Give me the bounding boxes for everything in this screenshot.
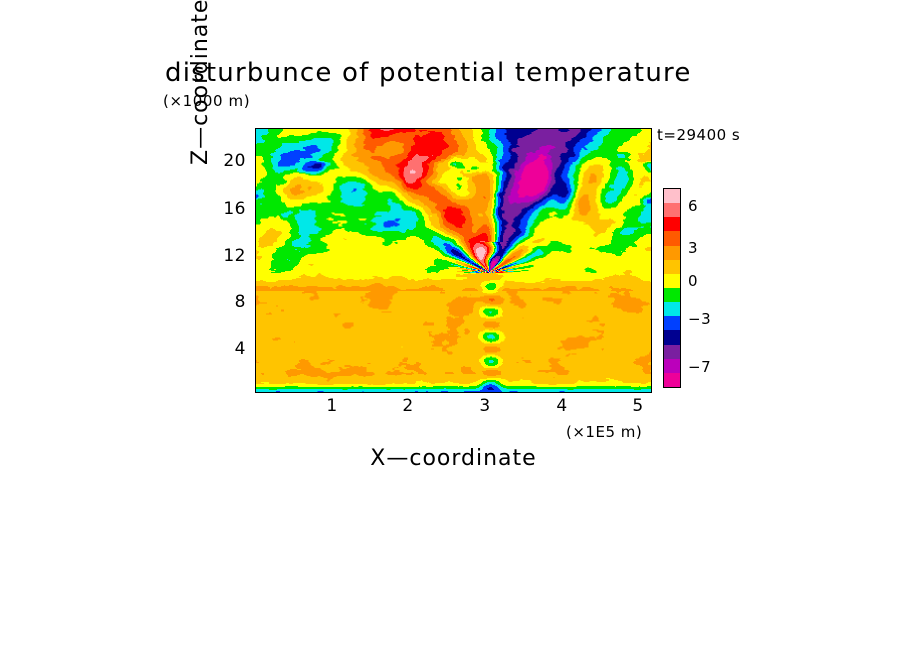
colorbar-band-6	[664, 274, 680, 288]
colorbar-label-3: 3	[688, 239, 698, 257]
colorbar-band-9	[664, 316, 680, 330]
colorbar-label-6: 6	[688, 197, 698, 215]
y-tick-4: 4	[235, 339, 246, 359]
x-tick-3: 3	[465, 396, 505, 416]
temperature-field	[256, 129, 651, 392]
colorbar-band-7	[664, 288, 680, 302]
x-unit-label: (×1E5 m)	[566, 423, 642, 441]
chart-title: disturbunce of potential temperature	[165, 58, 785, 88]
colorbar-band-12	[664, 359, 680, 373]
colorbar-band-5	[664, 260, 680, 274]
colorbar-label-0: 0	[688, 272, 698, 290]
colorbar-band-10	[664, 330, 680, 344]
colorbar-label-m3: −3	[688, 310, 711, 328]
colorbar-band-8	[664, 302, 680, 316]
x-tick-2: 2	[388, 396, 428, 416]
y-tick-12: 12	[223, 246, 246, 266]
colorbar-band-2	[664, 217, 680, 231]
x-axis-label: X—coordinate	[255, 446, 652, 471]
colorbar-label-m7: −7	[688, 358, 711, 376]
y-tick-20: 20	[223, 151, 246, 171]
y-axis-label: Z—coordinate	[188, 0, 213, 165]
y-tick-16: 16	[223, 199, 246, 219]
colorbar-band-13	[664, 373, 680, 387]
colorbar-band-3	[664, 231, 680, 245]
colorbar	[663, 188, 681, 388]
colorbar-band-1	[664, 203, 680, 217]
contour-plot-area	[255, 128, 652, 393]
colorbar-band-0	[664, 189, 680, 203]
timestamp-annotation: t=29400 s	[657, 126, 740, 144]
x-tick-5: 5	[618, 396, 658, 416]
x-tick-4: 4	[542, 396, 582, 416]
y-tick-8: 8	[235, 292, 246, 312]
colorbar-band-11	[664, 345, 680, 359]
x-tick-1: 1	[312, 396, 352, 416]
colorbar-band-4	[664, 246, 680, 260]
